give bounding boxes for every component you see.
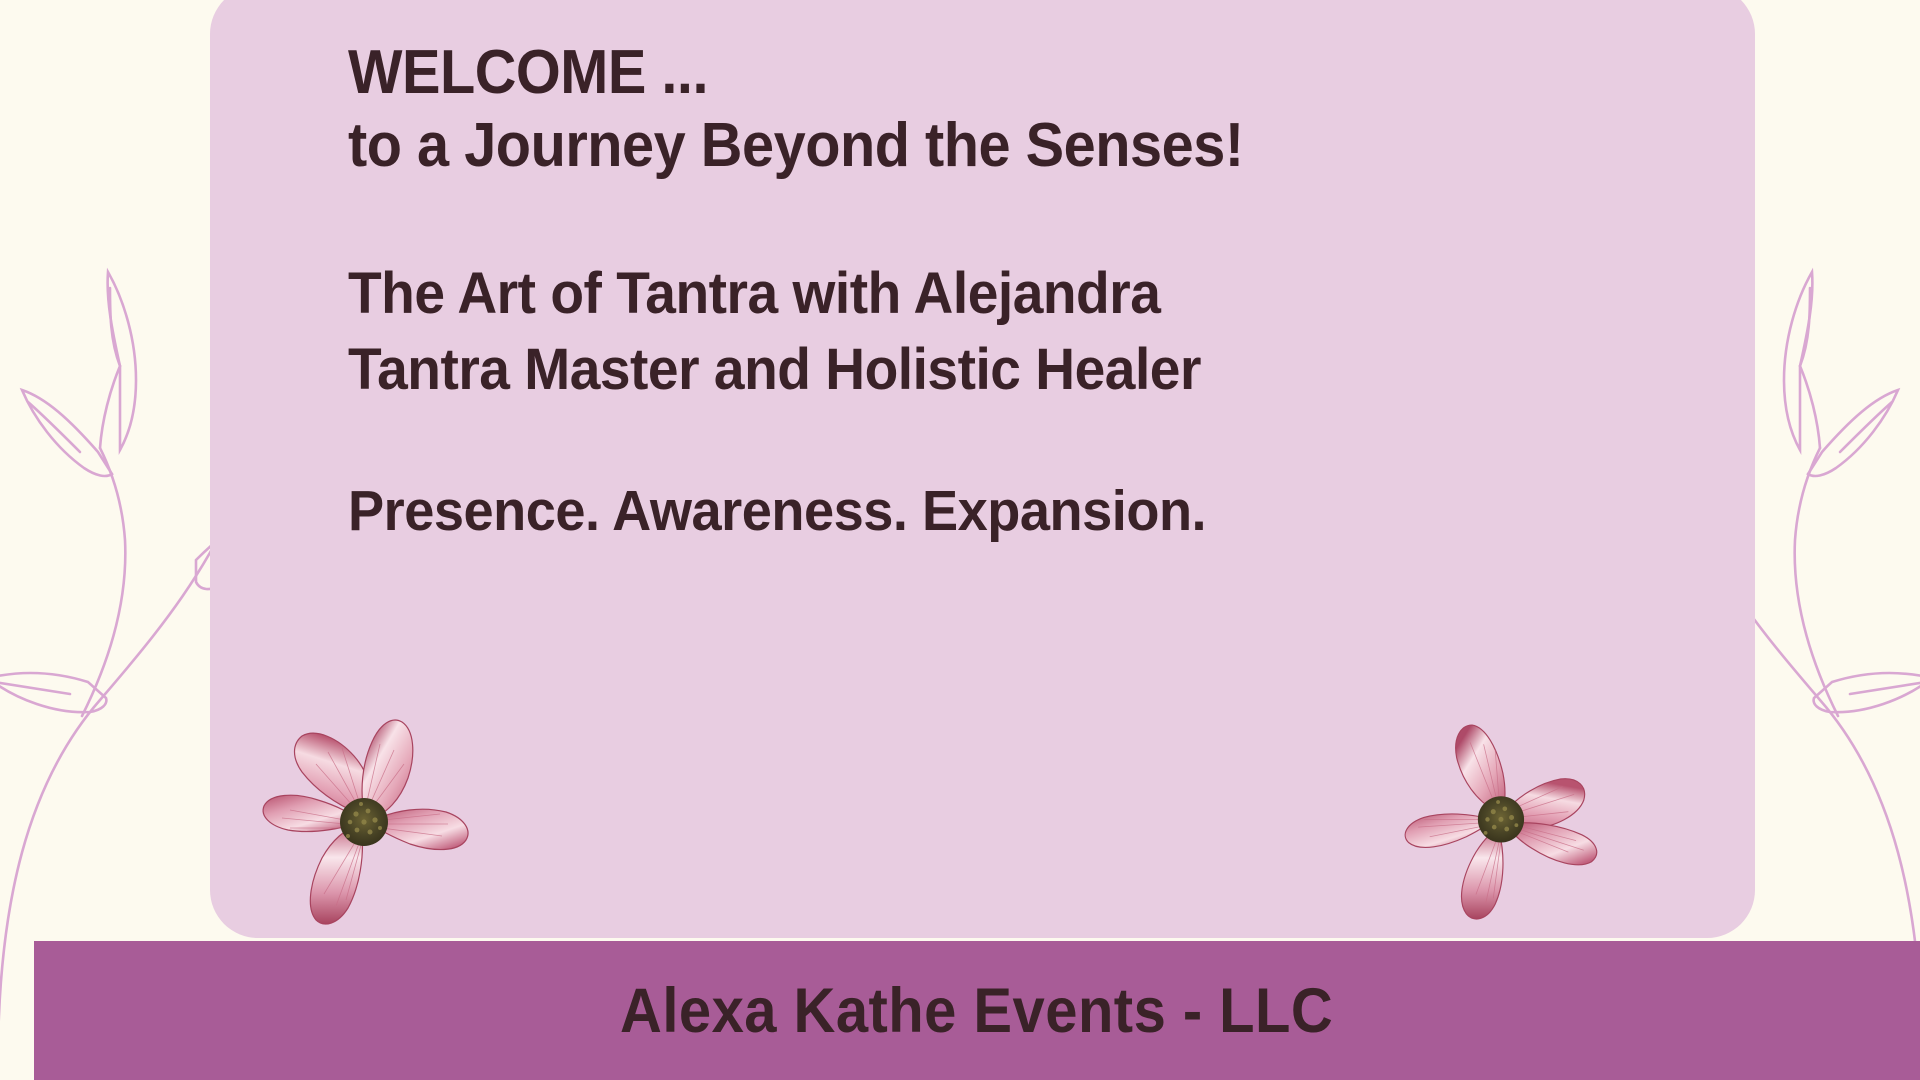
slide-canvas: WELCOME ... to a Journey Beyond the Sens… bbox=[0, 0, 1920, 1080]
brand-name: Alexa Kathe Events - LLC bbox=[620, 975, 1333, 1047]
headline-line-1: WELCOME ... bbox=[348, 36, 1613, 109]
subhead-line-2: Tantra Master and Holistic Healer bbox=[348, 332, 1640, 407]
spacer-1 bbox=[348, 182, 1708, 256]
spacer-2 bbox=[348, 407, 1708, 477]
footer-banner: Alexa Kathe Events - LLC bbox=[34, 941, 1920, 1080]
headline-block: WELCOME ... to a Journey Beyond the Sens… bbox=[348, 36, 1708, 545]
headline-line-2: to a Journey Beyond the Senses! bbox=[348, 109, 1613, 182]
welcome-group: WELCOME ... to a Journey Beyond the Sens… bbox=[348, 36, 1708, 182]
subhead-line-1: The Art of Tantra with Alejandra bbox=[348, 256, 1640, 331]
tagline: Presence. Awareness. Expansion. bbox=[348, 477, 1640, 545]
subhead-group: The Art of Tantra with Alejandra Tantra … bbox=[348, 256, 1708, 407]
